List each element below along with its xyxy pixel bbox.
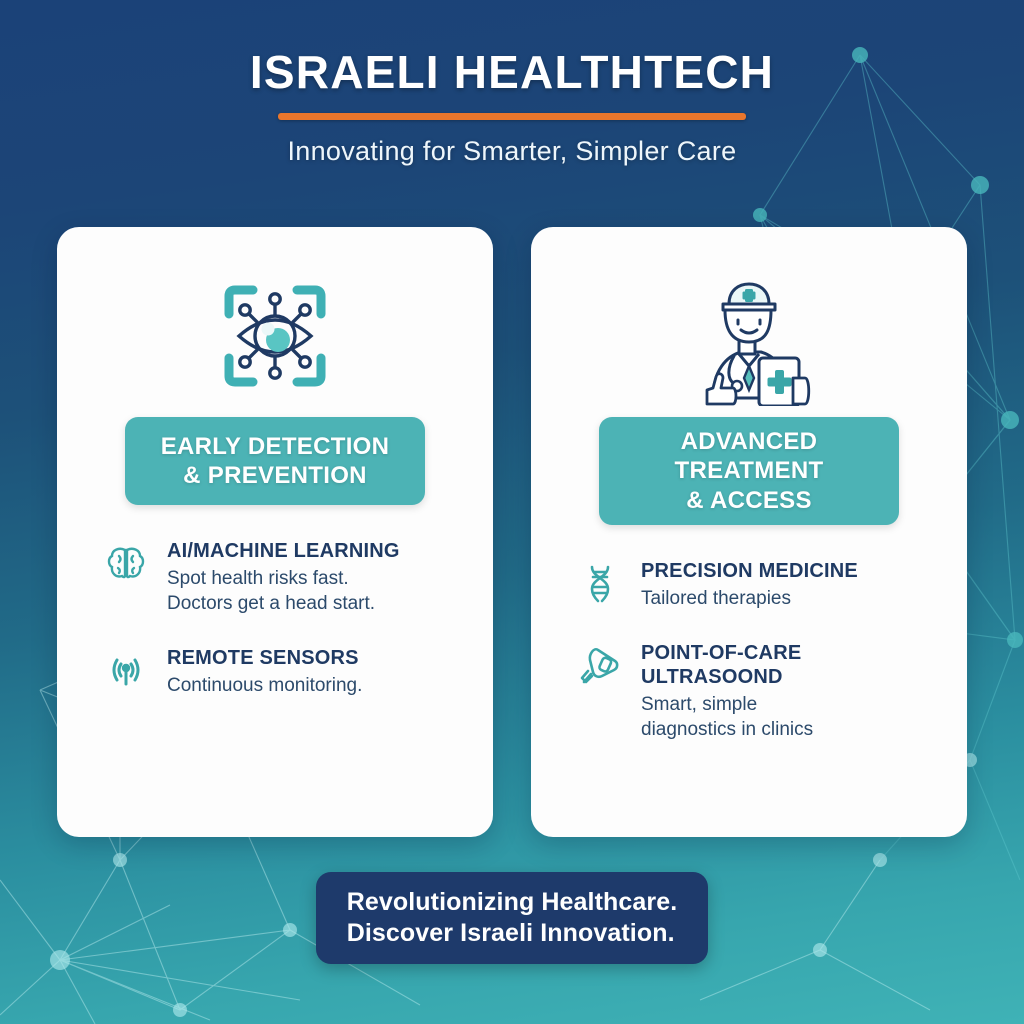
card-advanced-treatment: ADVANCED TREATMENT & ACCESS [531, 227, 967, 837]
list-item: REMOTE SENSORS Continuous monitoring. [103, 646, 469, 698]
infographic-poster: ISRAELI HEALTHTECH Innovating for Smarte… [0, 0, 1024, 1024]
feature-description: Tailored therapies [641, 586, 943, 611]
wireless-signal-icon [103, 646, 149, 692]
banner-line-1: ADVANCED TREATMENT [675, 428, 824, 484]
feature-description: Smart, simple diagnostics in clinics [641, 692, 943, 742]
banner-label: EARLY DETECTION & PREVENTION [147, 422, 404, 501]
feature-desc-line-2: Doctors get a head start. [167, 593, 375, 614]
list-item: PRECISION MEDICINE Tailored therapies [577, 559, 943, 611]
cta-line-2: Discover Israeli Innovation. [347, 919, 675, 947]
dna-helix-icon [577, 559, 623, 605]
page-title: ISRAELI HEALTHTECH [0, 48, 1024, 96]
ai-eye-scan-icon [209, 261, 341, 411]
card-early-detection: EARLY DETECTION & PREVENTION [57, 227, 493, 837]
feature-title: PRECISION MEDICINE [641, 559, 943, 583]
card-container: EARLY DETECTION & PREVENTION [57, 227, 967, 837]
ultrasound-probe-icon [577, 641, 623, 687]
cta-banner[interactable]: Revolutionizing Healthcare. Discover Isr… [316, 872, 708, 964]
feature-title: POINT-OF-CARE ULTRASOOND [641, 641, 943, 689]
feature-description: Spot health risks fast. Doctors get a he… [167, 566, 469, 616]
poster-header: ISRAELI HEALTHTECH Innovating for Smarte… [0, 48, 1024, 167]
cta-line-1: Revolutionizing Healthcare. [347, 888, 678, 916]
feature-desc-line-2: diagnostics in clinics [641, 719, 813, 740]
card-banner-advanced-treatment: ADVANCED TREATMENT & ACCESS [599, 417, 899, 525]
title-underline-rule [278, 113, 746, 120]
feature-title: REMOTE SENSORS [167, 646, 469, 670]
list-item: AI/MACHINE LEARNING Spot health risks fa… [103, 539, 469, 616]
feature-list-advanced-treatment: PRECISION MEDICINE Tailored therapies [531, 525, 967, 772]
cta-text: Revolutionizing Healthcare. Discover Isr… [325, 873, 700, 964]
feature-list-early-detection: AI/MACHINE LEARNING Spot health risks fa… [57, 505, 493, 728]
list-item: POINT-OF-CARE ULTRASOOND Smart, simple d… [577, 641, 943, 742]
feature-desc-line-1: Smart, simple [641, 694, 757, 715]
banner-line-2: & PREVENTION [183, 462, 367, 489]
page-subtitle: Innovating for Smarter, Simpler Care [0, 136, 1024, 167]
feature-title: AI/MACHINE LEARNING [167, 539, 469, 563]
feature-description: Continuous monitoring. [167, 673, 469, 698]
banner-line-1: EARLY DETECTION [161, 433, 390, 460]
feature-desc-line-1: Spot health risks fast. [167, 568, 349, 589]
card-banner-early-detection: EARLY DETECTION & PREVENTION [125, 417, 425, 505]
doctor-icon [679, 261, 819, 411]
banner-label: ADVANCED TREATMENT & ACCESS [599, 417, 899, 525]
brain-icon [103, 539, 149, 585]
banner-line-2: & ACCESS [686, 487, 812, 514]
